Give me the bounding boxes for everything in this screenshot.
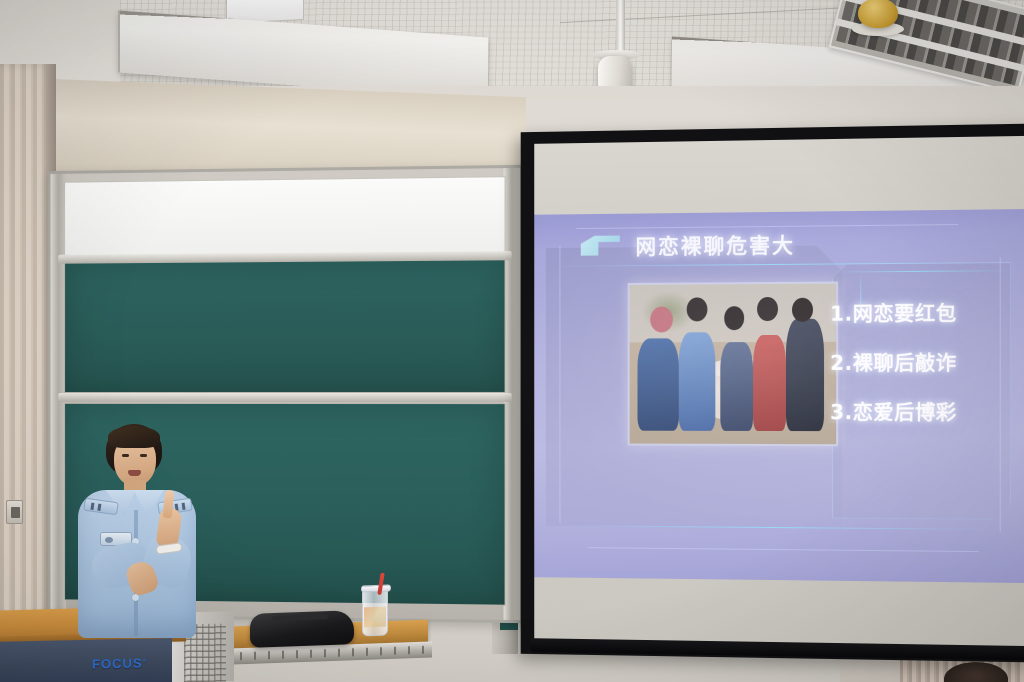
blackboard-panel-upper — [64, 259, 505, 393]
podium-brand-text: FOCUS — [92, 656, 143, 672]
photo-person — [786, 319, 824, 431]
speaker-eye — [122, 454, 129, 457]
black-bag[interactable] — [250, 610, 354, 648]
podium-brand-mark: ® — [143, 658, 147, 664]
speaker-hair-fringe — [108, 426, 160, 448]
cup-lid — [361, 584, 391, 592]
speaker-mouth — [128, 470, 141, 476]
drink-cup[interactable] — [362, 588, 388, 637]
light-switch-plate[interactable] — [6, 500, 23, 524]
blackboard-rail-horizontal — [58, 393, 511, 402]
screen-surface: 网恋裸聊危害大 — [534, 136, 1024, 646]
list-item: 2.裸聊后敲诈 — [830, 346, 1003, 376]
photo-person — [679, 332, 716, 431]
photo-person — [638, 339, 679, 431]
photo-person — [753, 335, 786, 431]
epaulette-bar — [182, 503, 186, 510]
cup-label — [364, 607, 386, 628]
list-item: 3.恋爱后博彩 — [830, 396, 1003, 425]
photo-person-head — [687, 297, 708, 321]
desk-rail-detail — [240, 646, 424, 660]
classroom-scene: 网恋裸聊危害大 — [0, 0, 1024, 682]
podium-brand-logo: FOCUS® — [92, 655, 146, 671]
epaulette-bar — [97, 504, 101, 511]
speaker-eye — [140, 454, 147, 457]
slide-bullet-list: 1.网恋要红包 2.裸聊后敲诈 3.恋爱后博彩 — [830, 297, 1003, 426]
slide-title: 网恋裸聊危害大 — [636, 230, 795, 261]
list-item: 1.网恋要红包 — [830, 297, 1003, 327]
slide-photo — [628, 282, 838, 447]
speaker-figure — [72, 424, 202, 638]
projection-screen: 网恋裸聊危害大 — [521, 124, 1024, 663]
podium-body — [0, 638, 172, 682]
photo-person — [720, 342, 753, 431]
bag-strap — [272, 614, 328, 621]
presentation-slide: 网恋裸聊危害大 — [534, 209, 1024, 583]
photo-person-head — [757, 297, 778, 321]
epaulette-bar — [90, 503, 94, 510]
photo-person-head — [650, 307, 672, 333]
wall-slat-panel-left — [0, 64, 52, 664]
amber-dome-light-icon — [858, 0, 898, 28]
white-projection-panel — [64, 176, 505, 257]
